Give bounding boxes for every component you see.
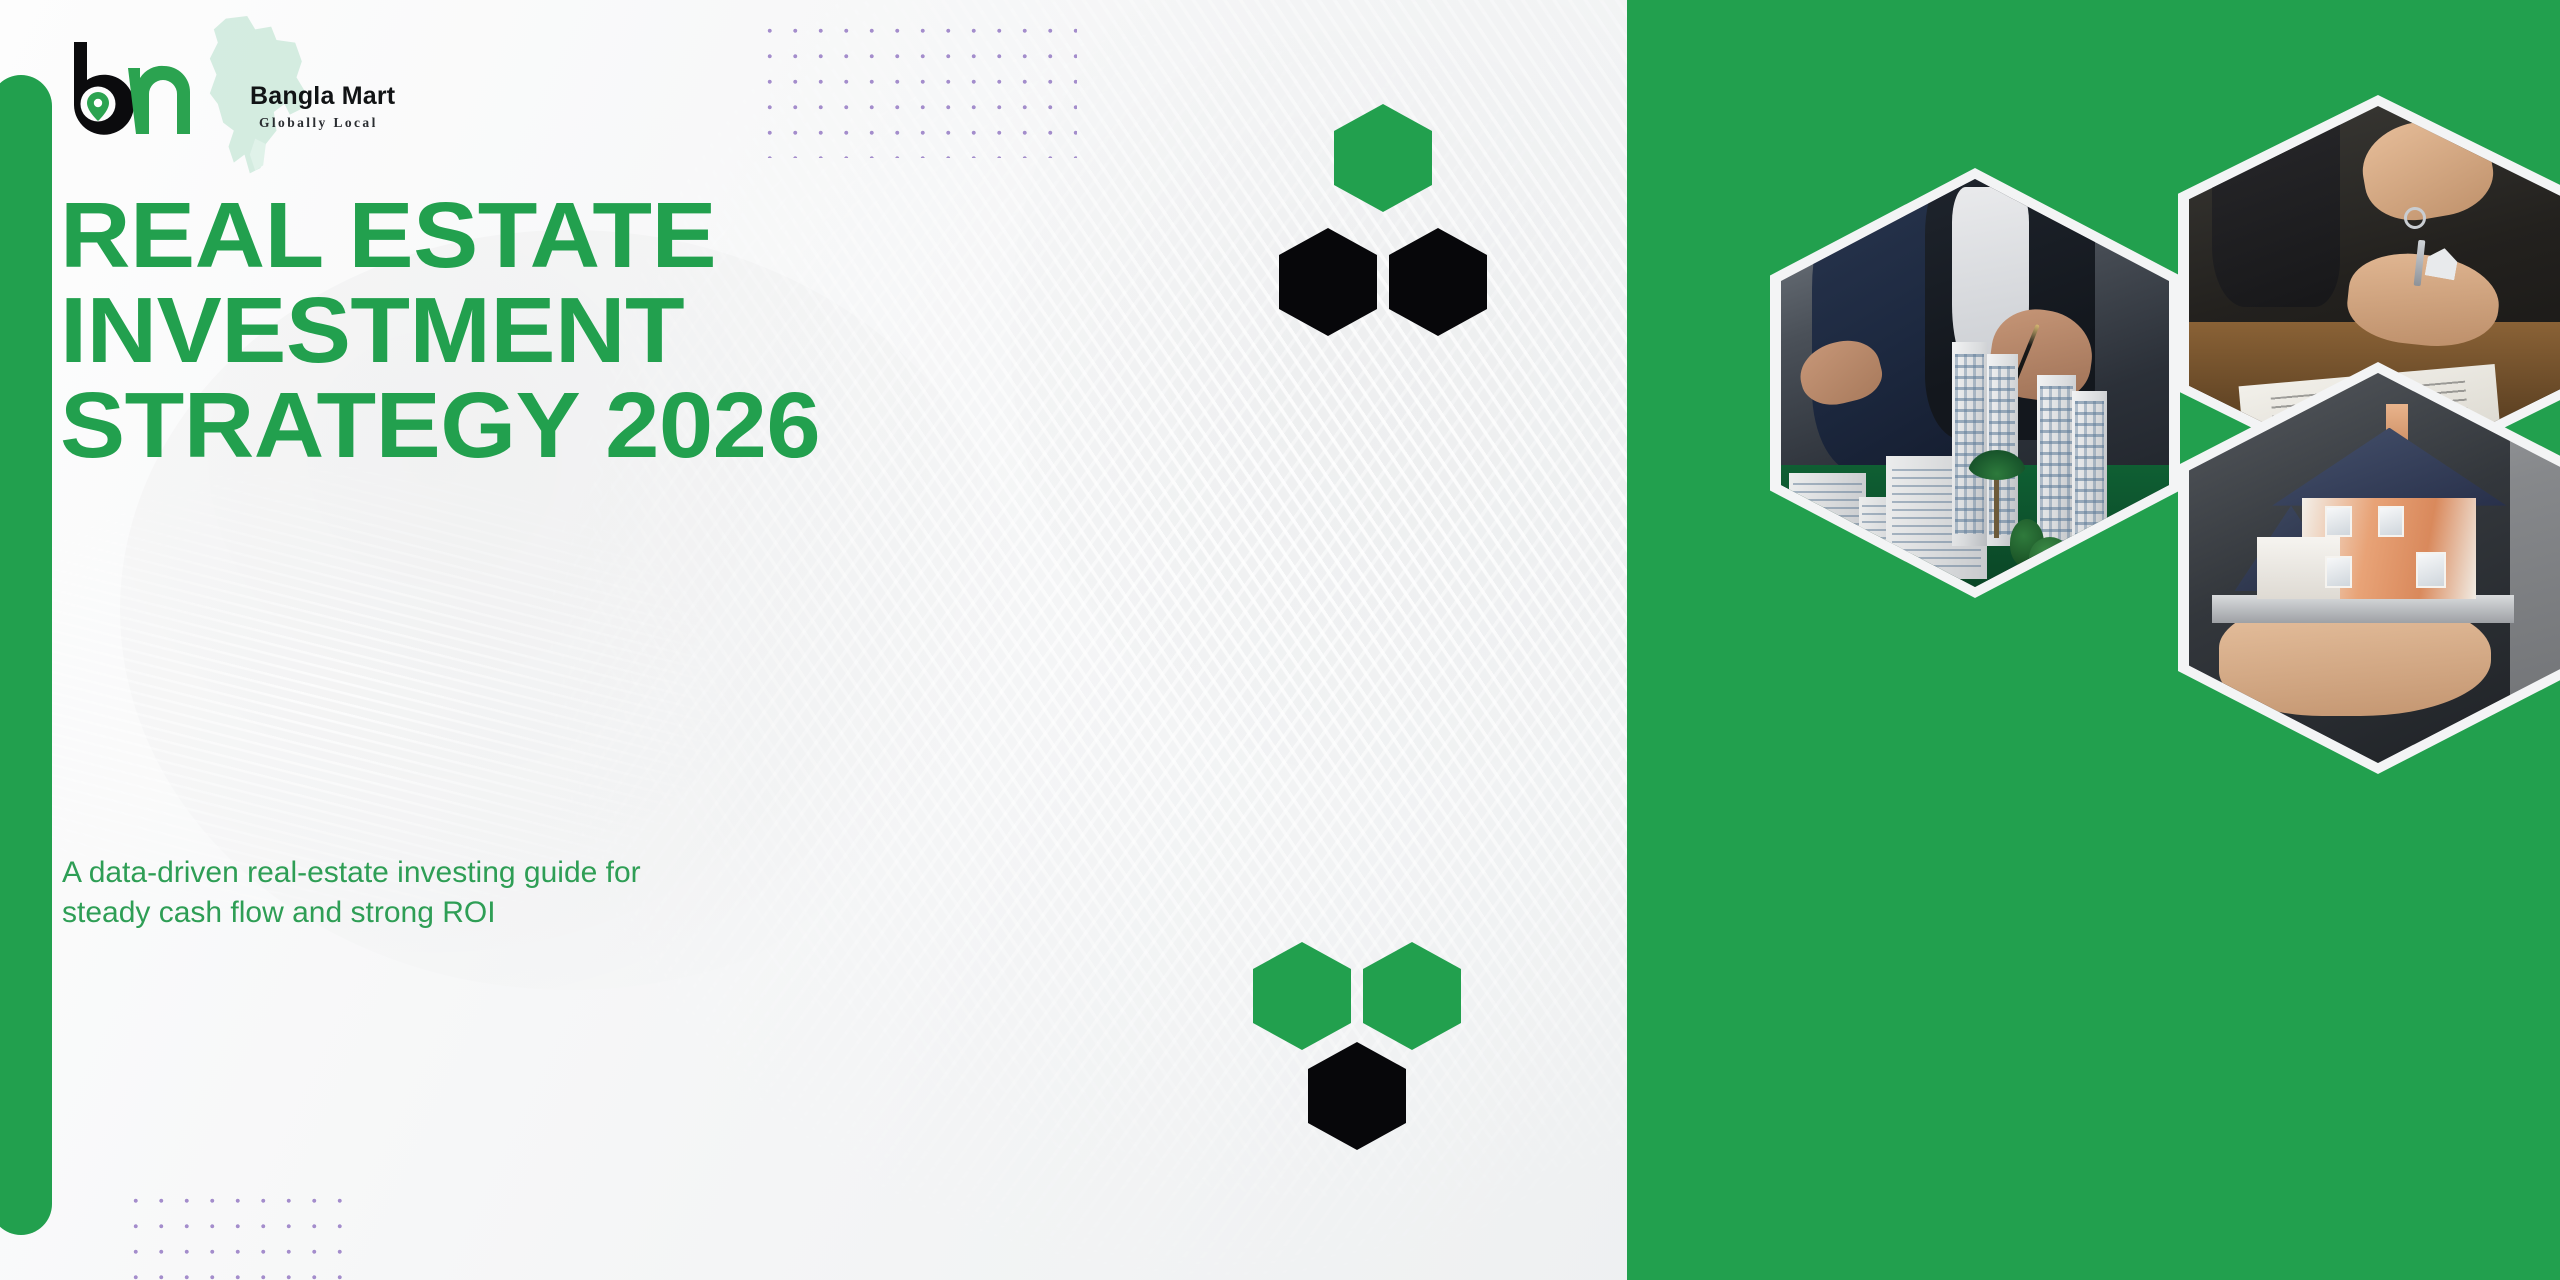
title-line-1: REAL ESTATE <box>60 188 1005 283</box>
title-line-3: STRATEGY 2026 <box>60 378 1005 473</box>
mesh-lines-c <box>0 420 780 1040</box>
hexagon-decor-black-top-right <box>1389 228 1487 336</box>
real-estate-banner: Bangla Mart Globally Local REAL ESTATE I… <box>0 0 2560 1280</box>
dot-grid-bottom <box>123 1188 358 1280</box>
title-line-2: INVESTMENT <box>60 283 1005 378</box>
brand-name: Bangla Mart <box>250 82 395 111</box>
page-subtitle: A data-driven real-estate investing guid… <box>62 853 762 933</box>
left-accent-bar <box>0 75 52 1235</box>
bm-monogram-icon <box>60 38 230 138</box>
hexagon-decor-black-top-left <box>1279 228 1377 336</box>
page-title: REAL ESTATE INVESTMENT STRATEGY 2026 <box>60 188 1005 473</box>
hexagon-decor-green-bottom-right <box>1363 942 1461 1050</box>
brand-tagline: Globally Local <box>259 115 378 131</box>
dot-grid-top <box>757 18 1077 158</box>
hexagon-decor-black-bottom <box>1308 1042 1406 1150</box>
subtitle-line-2: steady cash flow and strong ROI <box>62 893 762 933</box>
hexagon-decor-green-top <box>1334 104 1432 212</box>
hexagon-decor-green-bottom-left <box>1253 942 1351 1050</box>
brand-logo[interactable]: Bangla Mart Globally Local <box>60 20 380 140</box>
subtitle-line-1: A data-driven real-estate investing guid… <box>62 853 762 893</box>
